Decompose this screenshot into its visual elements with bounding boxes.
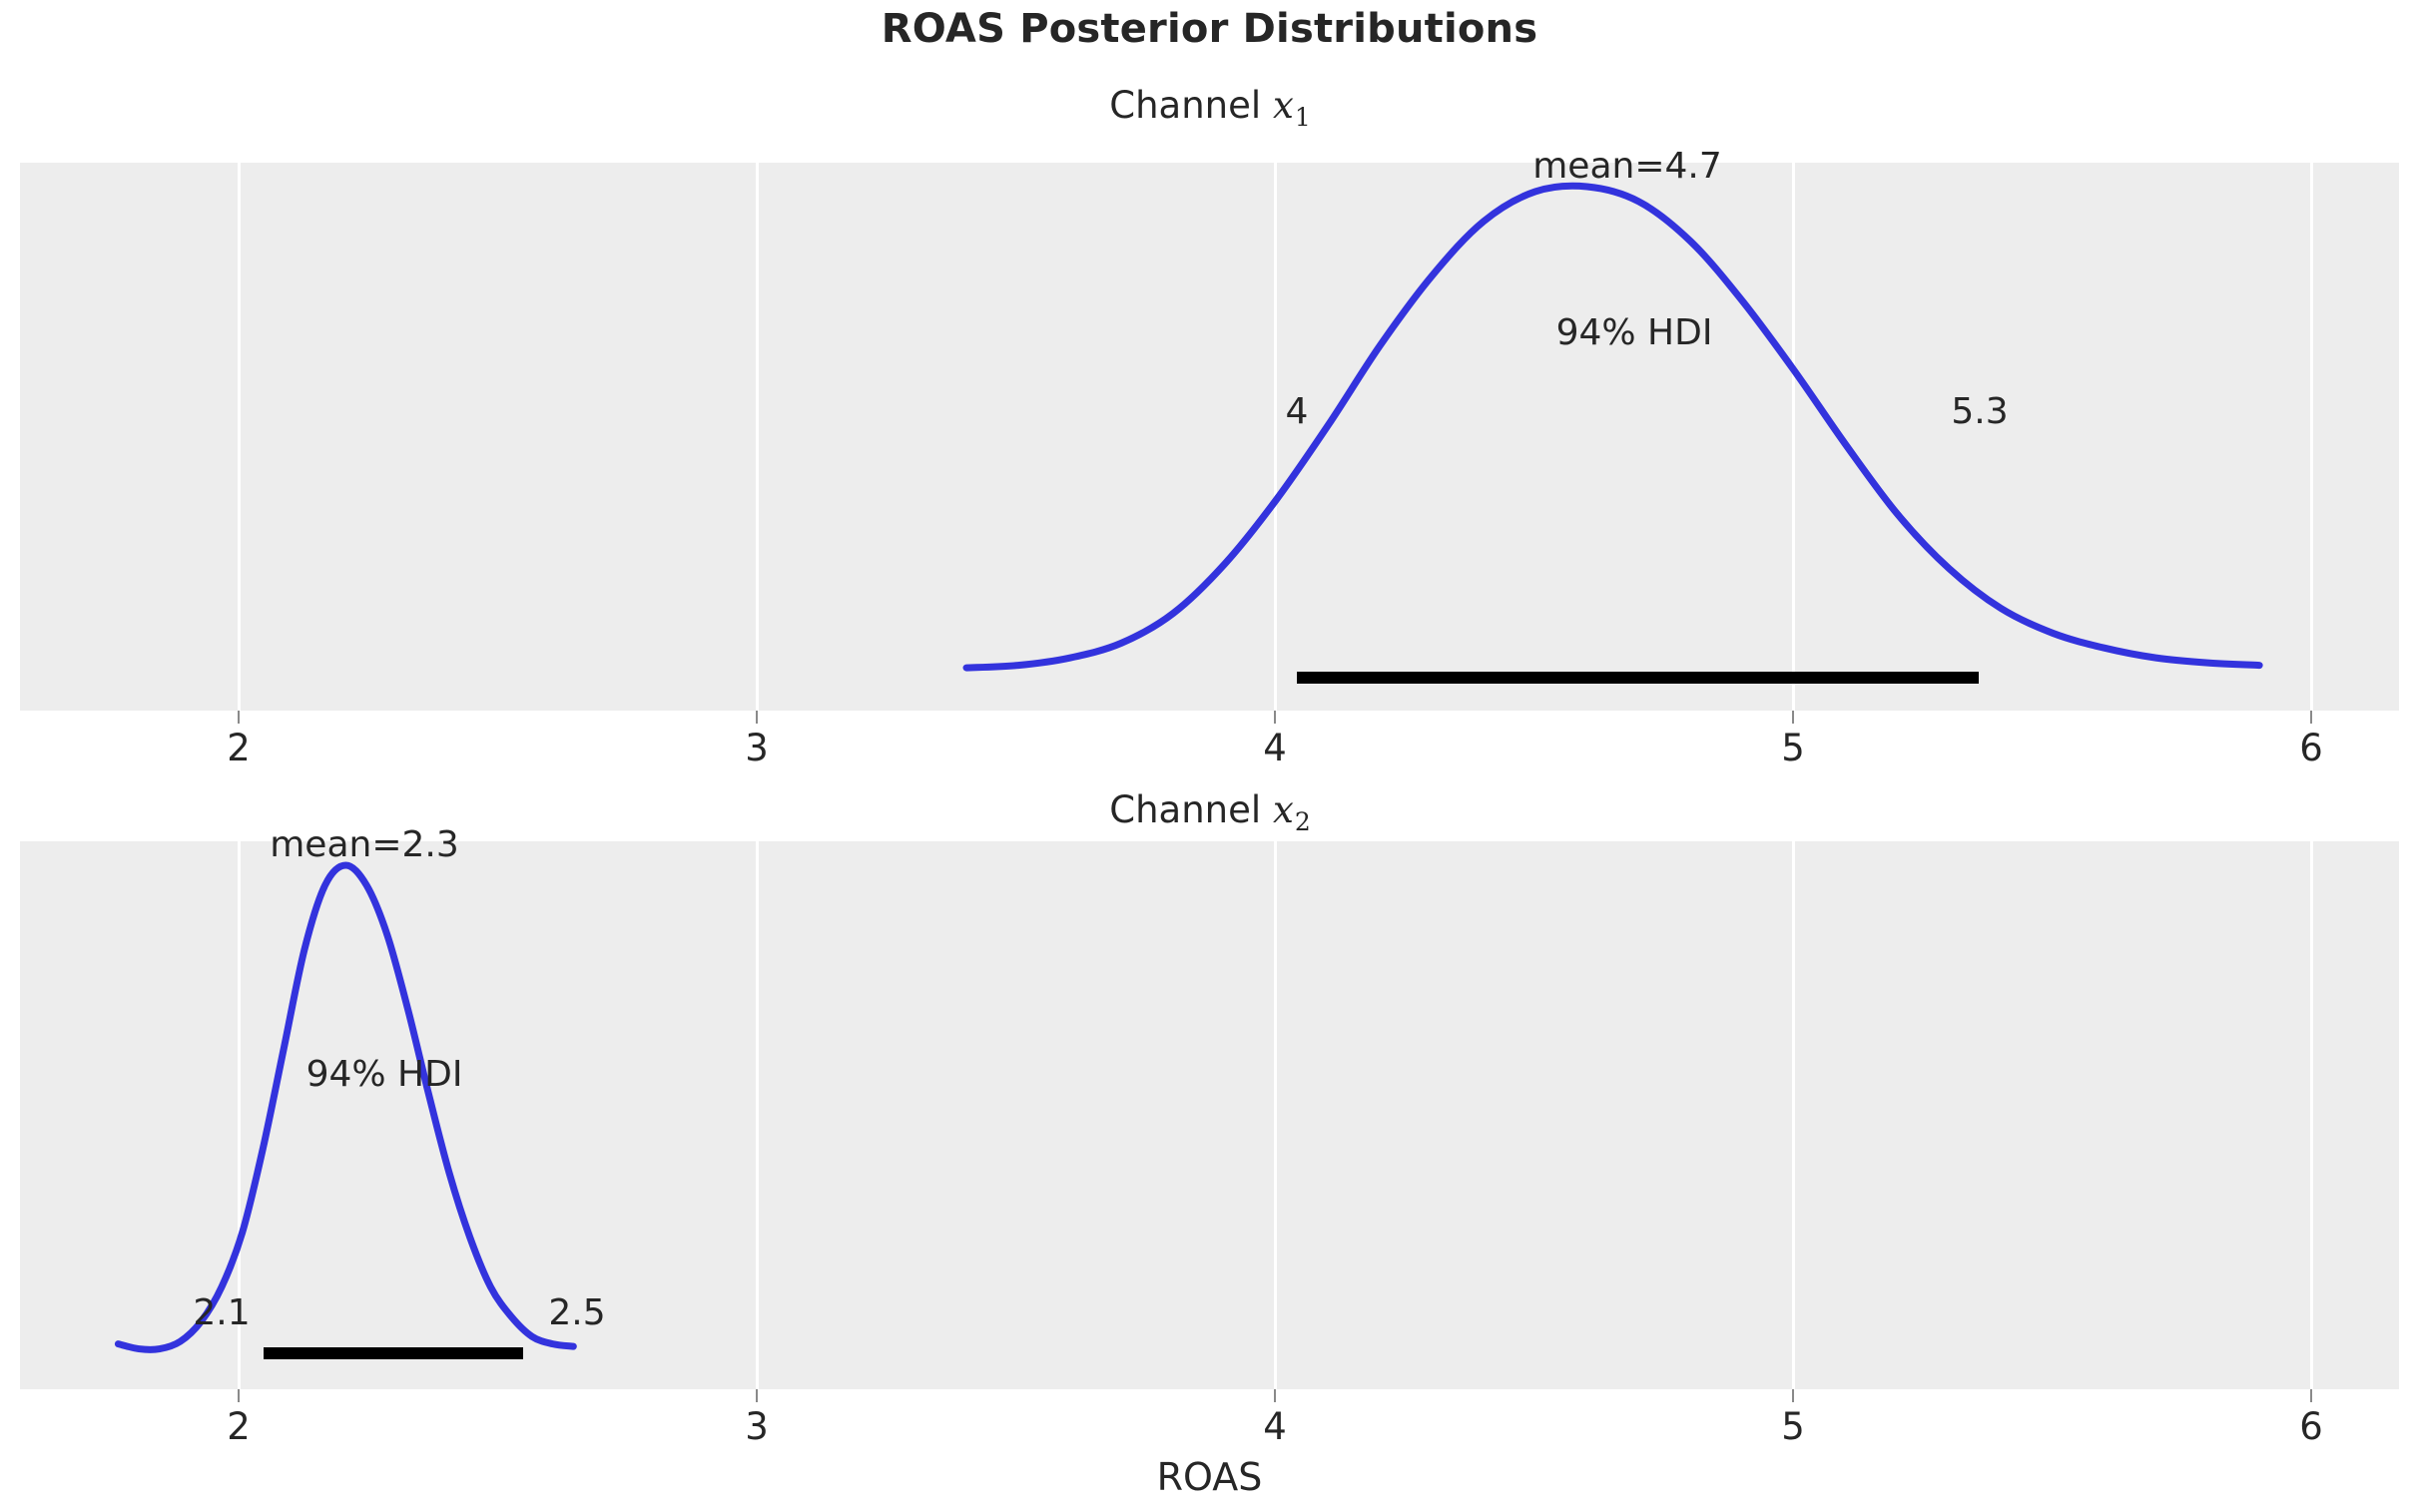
subplot-2-kde-curve <box>20 841 2399 1389</box>
xticklabel-3-panel-2: 3 <box>745 1405 769 1448</box>
subplot-1-title-variable: x <box>1273 84 1294 127</box>
subplot-2-title-prefix: Channel <box>1109 788 1273 831</box>
subplot-1-title-subscript: 1 <box>1295 103 1311 132</box>
xticklabel-2-panel-2: 2 <box>227 1405 251 1448</box>
tick-x-3-panel-2 <box>756 1389 758 1402</box>
xticklabel-4-panel-2: 4 <box>1263 1405 1287 1448</box>
subplot-2-hdi-low-label: 2.1 <box>193 1292 250 1333</box>
xticklabel-6-panel-1: 6 <box>2299 727 2323 769</box>
subplot-2-mean-label: mean=2.3 <box>270 824 459 865</box>
subplot-2-plot-area <box>20 841 2399 1389</box>
tick-x-4-panel-1 <box>1274 711 1276 724</box>
subplot-1-title-prefix: Channel <box>1109 84 1273 127</box>
tick-x-4-panel-2 <box>1274 1389 1276 1402</box>
subplot-1-hdi-label: 94% HDI <box>1556 312 1713 353</box>
subplot-1-hdi-bar <box>1297 672 1979 684</box>
subplot-2-hdi-high-label: 2.5 <box>548 1292 605 1333</box>
figure-root: ROAS Posterior Distributions Channel x1 … <box>0 0 2419 1512</box>
xticklabel-5-panel-1: 5 <box>1781 727 1805 769</box>
subplot-2-hdi-label: 94% HDI <box>306 1054 463 1095</box>
tick-x-2-panel-2 <box>238 1389 240 1402</box>
figure-title: ROAS Posterior Distributions <box>0 6 2419 52</box>
xticklabel-5-panel-2: 5 <box>1781 1405 1805 1448</box>
subplot-2-hdi-bar <box>264 1347 523 1359</box>
tick-x-6-panel-1 <box>2310 711 2312 724</box>
tick-x-6-panel-2 <box>2310 1389 2312 1402</box>
tick-x-2-panel-1 <box>238 711 240 724</box>
subplot-1-plot-area <box>20 163 2399 711</box>
x-axis-label: ROAS <box>0 1455 2419 1499</box>
tick-x-5-panel-1 <box>1792 711 1794 724</box>
xticklabel-3-panel-1: 3 <box>745 727 769 769</box>
subplot-1-hdi-high-label: 5.3 <box>1951 391 2008 432</box>
tick-x-5-panel-2 <box>1792 1389 1794 1402</box>
subplot-1-hdi-low-label: 4 <box>1286 391 1309 432</box>
subplot-1-kde-curve <box>20 163 2399 711</box>
subplot-2-title-subscript: 2 <box>1295 807 1311 836</box>
xticklabel-6-panel-2: 6 <box>2299 1405 2323 1448</box>
tick-x-3-panel-1 <box>756 711 758 724</box>
xticklabel-4-panel-1: 4 <box>1263 727 1287 769</box>
subplot-1-title: Channel x1 <box>0 84 2419 127</box>
subplot-1-mean-label: mean=4.7 <box>1532 146 1722 187</box>
subplot-2-title-variable: x <box>1273 788 1294 831</box>
xticklabel-2-panel-1: 2 <box>227 727 251 769</box>
